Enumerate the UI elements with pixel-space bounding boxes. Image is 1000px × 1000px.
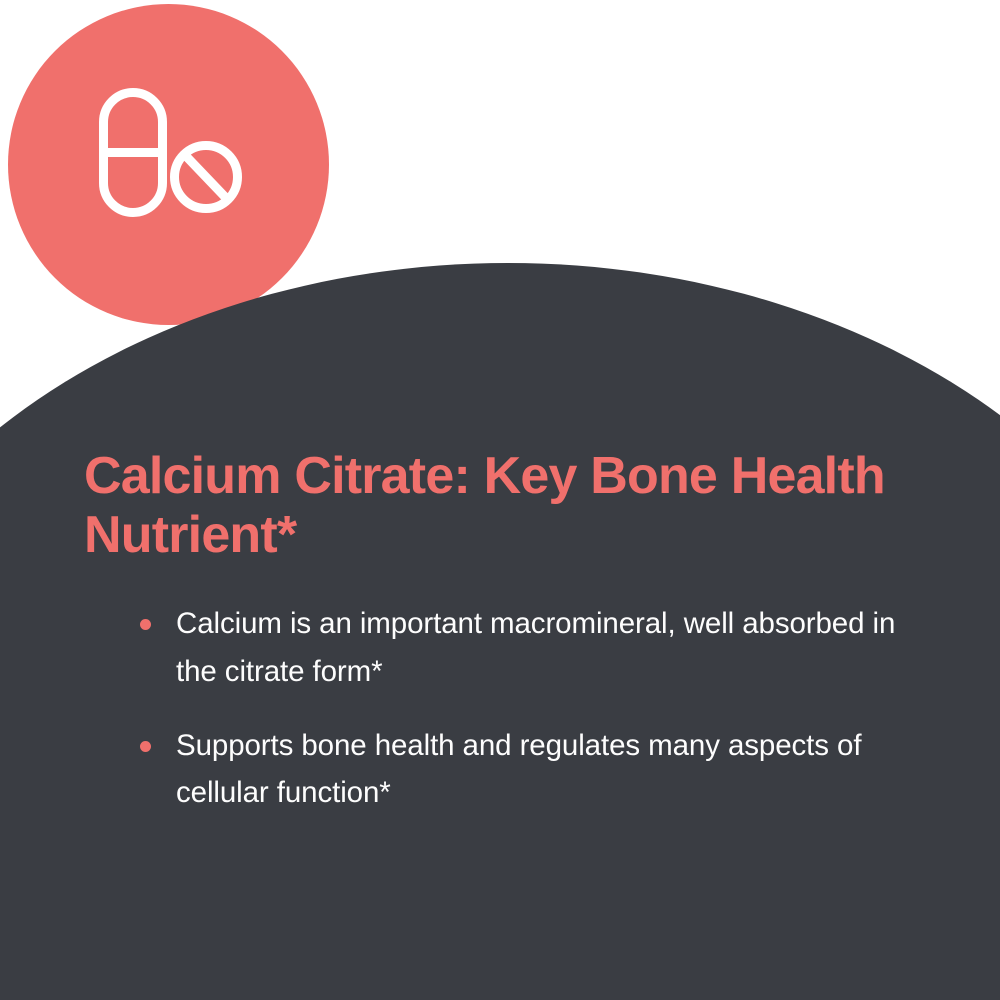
infographic-canvas: Calcium Citrate: Key Bone Health Nutrien…: [0, 0, 1000, 1000]
content-area: Calcium Citrate: Key Bone Health Nutrien…: [0, 0, 1000, 1000]
benefits-list: Calcium is an important macromineral, we…: [134, 600, 934, 817]
bullet-dot-icon: [140, 741, 151, 752]
list-item: Supports bone health and regulates many …: [134, 722, 934, 818]
list-item-text: Calcium is an important macromineral, we…: [176, 607, 895, 688]
page-title: Calcium Citrate: Key Bone Health Nutrien…: [84, 447, 904, 566]
list-item: Calcium is an important macromineral, we…: [134, 600, 934, 696]
bullet-dot-icon: [140, 619, 151, 630]
list-item-text: Supports bone health and regulates many …: [176, 729, 861, 810]
